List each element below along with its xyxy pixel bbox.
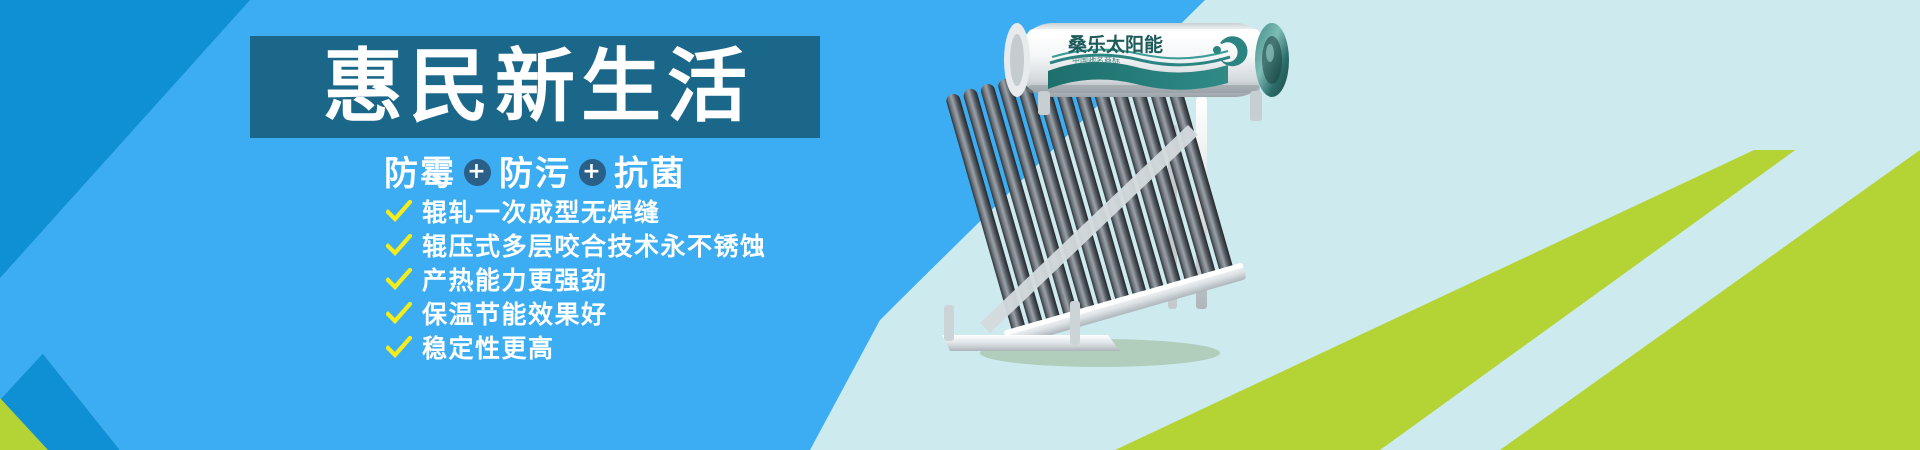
list-item: 辊轧一次成型无焊缝	[386, 196, 816, 228]
subtitle: 防霉 + 防污 + 抗菌	[250, 146, 820, 195]
list-item: 辊压式多层咬合技术永不锈蚀	[386, 230, 816, 262]
list-item: 产热能力更强劲	[386, 264, 816, 296]
check-icon	[386, 302, 412, 326]
list-item-label: 保温节能效果好	[422, 302, 608, 327]
list-item-label: 辊压式多层咬合技术永不锈蚀	[422, 234, 767, 259]
check-icon	[386, 268, 412, 292]
tank-subtext: 中国驰名商标	[1072, 55, 1120, 65]
water-tank: 桑乐太阳能 中国驰名商标	[1004, 23, 1289, 97]
list-item-label: 辊轧一次成型无焊缝	[422, 200, 661, 225]
subtitle-part-2: 防污	[499, 146, 571, 195]
promo-banner: 惠民新生活 防霉 + 防污 + 抗菌 辊轧一次成型无焊缝 辊压式多层咬合技术永不…	[0, 0, 1920, 450]
check-icon	[386, 336, 412, 360]
plus-icon: +	[464, 159, 491, 186]
banner-text-content: 惠民新生活 防霉 + 防污 + 抗菌 辊轧一次成型无焊缝 辊压式多层咬合技术永不…	[0, 0, 1000, 450]
feature-list: 辊轧一次成型无焊缝 辊压式多层咬合技术永不锈蚀 产热能力更强劲 保温节能效果好	[386, 196, 816, 366]
list-item: 保温节能效果好	[386, 298, 816, 330]
list-item: 稳定性更高	[386, 332, 816, 364]
page-title: 惠民新生活	[317, 47, 753, 127]
list-item-label: 产热能力更强劲	[422, 268, 608, 293]
check-icon	[386, 234, 412, 258]
subtitle-part-1: 防霉	[384, 146, 456, 195]
check-icon	[386, 200, 412, 224]
headline-box: 惠民新生活	[250, 36, 820, 138]
tank-brand-text: 桑乐太阳能	[1068, 33, 1163, 56]
plus-icon: +	[579, 159, 606, 186]
list-item-label: 稳定性更高	[422, 336, 555, 361]
subtitle-part-3: 抗菌	[614, 146, 686, 195]
